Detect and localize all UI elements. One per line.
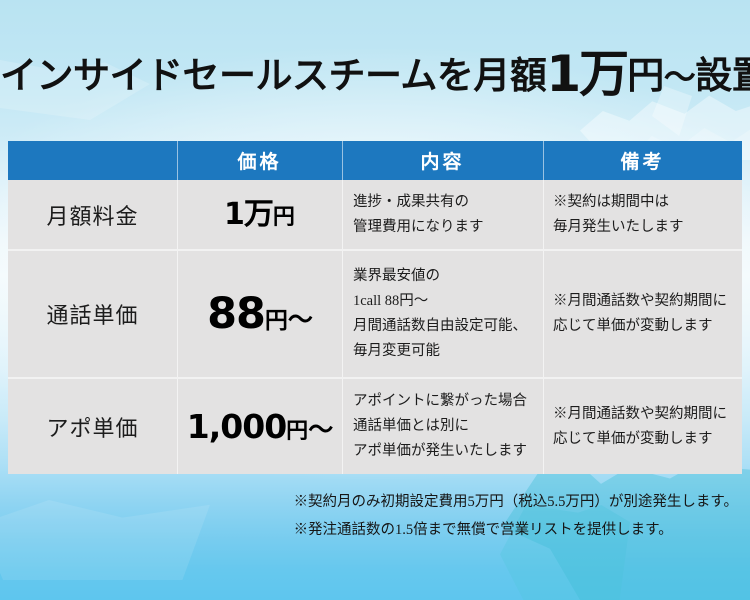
remarks-line: ※月間通話数や契約期間に	[553, 402, 727, 427]
table-row: 月額料金 1万円 進捗・成果共有の 管理費用になります ※契約は期間中は 毎月発…	[8, 180, 742, 249]
price-unit: 円	[265, 308, 288, 334]
price-tilde: 〜	[308, 415, 332, 444]
description-line: 1call 88円〜	[353, 289, 527, 314]
row-remarks-monthly-fee: ※契約は期間中は 毎月発生いたします	[543, 190, 688, 240]
row-description-cell: アポイントに繋がった場合 通話単価とは別に アポ単価が発生いたします	[342, 379, 543, 474]
pricing-table: 価格 内容 備考 月額料金 1万円 進捗・成果共有の 管理費用になります ※契約…	[8, 141, 742, 474]
pricing-table-header-row: 価格 内容 備考	[8, 141, 742, 180]
column-header-content: 内容	[342, 141, 543, 180]
footnote-sales-list: ※発注通話数の1.5倍まで無償で営業リストを提供します。	[294, 516, 738, 544]
remarks-line: ※契約は期間中は	[553, 190, 684, 215]
row-remarks-cell: ※月間通話数や契約期間に 応じて単価が変動します	[543, 251, 742, 377]
description-line: 管理費用になります	[353, 215, 484, 240]
row-price-cell: 1,000円〜	[177, 379, 342, 474]
table-row: アポ単価 1,000円〜 アポイントに繋がった場合 通話単価とは別に アポ単価が…	[8, 377, 742, 474]
price-value-appointment-unit-price: 1,000円〜	[177, 410, 342, 443]
price-unit: 円	[273, 205, 295, 230]
row-remarks-cell: ※契約は期間中は 毎月発生いたします	[543, 180, 742, 249]
remarks-line: 応じて単価が変動します	[553, 427, 727, 452]
footnotes: ※契約月のみ初期設定費用5万円（税込5.5万円）が別途発生します。 ※発注通話数…	[294, 488, 738, 545]
description-line: アポ単価が発生いたします	[353, 439, 527, 464]
price-number: 88	[207, 289, 265, 339]
column-header-price: 価格	[177, 141, 342, 180]
column-header-blank	[8, 141, 177, 180]
price-number: 1,000	[187, 407, 286, 446]
row-description-call-unit-price: 業界最安値の 1call 88円〜 月間通話数自由設定可能、 毎月変更可能	[342, 264, 531, 364]
description-line: 進捗・成果共有の	[353, 190, 484, 215]
footnote-setup-fee: ※契約月のみ初期設定費用5万円（税込5.5万円）が別途発生します。	[294, 488, 738, 516]
page-headline: インサイドセールスチームを月額1万円〜設置できます	[0, 49, 750, 99]
price-value-monthly-fee: 1万円	[177, 200, 342, 230]
remarks-line: ※月間通話数や契約期間に	[553, 289, 727, 314]
price-value-call-unit-price: 88円〜	[177, 293, 342, 336]
row-description-cell: 業界最安値の 1call 88円〜 月間通話数自由設定可能、 毎月変更可能	[342, 251, 543, 377]
description-line: アポイントに繋がった場合	[353, 389, 527, 414]
headline-part-3: 設置できます	[695, 54, 750, 97]
column-header-remarks: 備考	[543, 141, 742, 180]
description-line: 毎月変更可能	[353, 339, 527, 364]
row-price-cell: 1万円	[177, 180, 342, 249]
remarks-line: 応じて単価が変動します	[553, 314, 727, 339]
price-tilde: 〜	[288, 305, 312, 334]
description-line: 月間通話数自由設定可能、	[353, 314, 527, 339]
row-description-appointment-unit-price: アポイントに繋がった場合 通話単価とは別に アポ単価が発生いたします	[342, 389, 531, 464]
world-map-shape-left-bottom	[0, 500, 210, 580]
row-label-appointment-unit-price: アポ単価	[8, 411, 177, 443]
row-description-cell: 進捗・成果共有の 管理費用になります	[342, 180, 543, 249]
headline-currency-unit: 円	[627, 54, 664, 97]
price-unit: 円	[286, 419, 308, 444]
row-label-monthly-fee: 月額料金	[8, 199, 177, 231]
description-line: 通話単価とは別に	[353, 414, 527, 439]
price-number: 1万	[224, 197, 273, 232]
row-label-cell: 通話単価	[8, 251, 177, 377]
row-label-cell: アポ単価	[8, 379, 177, 474]
headline-emphasis-amount: 1万	[546, 45, 627, 103]
row-remarks-appointment-unit-price: ※月間通話数や契約期間に 応じて単価が変動します	[543, 402, 731, 452]
row-remarks-call-unit-price: ※月間通話数や契約期間に 応じて単価が変動します	[543, 289, 731, 339]
row-label-cell: 月額料金	[8, 180, 177, 249]
description-line: 業界最安値の	[353, 264, 527, 289]
remarks-line: 毎月発生いたします	[553, 215, 684, 240]
row-label-call-unit-price: 通話単価	[8, 298, 177, 330]
headline-part-1: インサイドセールスチームを月額	[0, 54, 546, 97]
table-row: 通話単価 88円〜 業界最安値の 1call 88円〜 月間通話数自由設定可能、…	[8, 249, 742, 377]
row-description-monthly-fee: 進捗・成果共有の 管理費用になります	[342, 190, 488, 240]
row-price-cell: 88円〜	[177, 251, 342, 377]
headline-tilde: 〜	[664, 58, 696, 96]
row-remarks-cell: ※月間通話数や契約期間に 応じて単価が変動します	[543, 379, 742, 474]
